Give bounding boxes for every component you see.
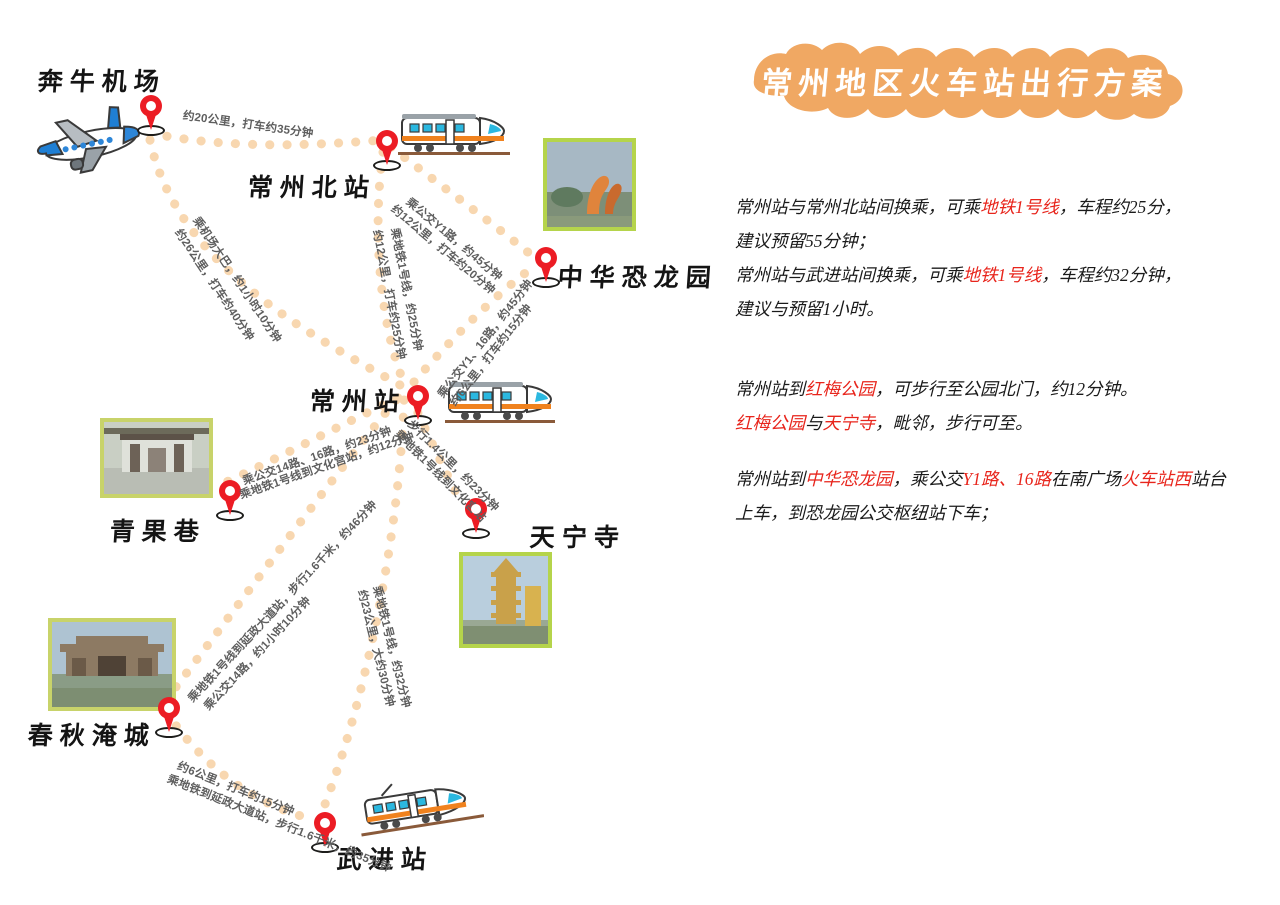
place-label-qingguo-lane: 青果巷 [109, 512, 208, 548]
highlight-text: 火车站西 [1121, 469, 1191, 489]
body-text: 常州站与常州北站间换乘，可乘 [735, 197, 980, 217]
text-line: 常州站与武进站间换乘，可乘地铁1号线，车程约32分钟， [735, 258, 1255, 292]
photo-tianning-temple [459, 552, 552, 648]
place-label-dinosaur-park: 中华恐龙园 [557, 258, 720, 294]
highlight-text: 地铁1号线 [980, 197, 1059, 217]
text-line: 建议预留55分钟； [735, 224, 1255, 258]
title-banner: 常州地区火车站出行方案 [730, 38, 1200, 123]
body-text: 常州站到 [735, 469, 805, 489]
paragraph-transfer-note: 常州站与常州北站间换乘，可乘地铁1号线，车程约25分，建议预留55分钟；常州站与… [735, 190, 1255, 326]
highlight-text: Y1路、16路 [963, 469, 1051, 489]
text-line: 常州站到中华恐龙园，乘公交Y1路、16路在南广场火车站西站台 [735, 462, 1255, 496]
place-label-chunqiu-yancheng: 春秋淹城 [27, 716, 158, 752]
body-text: ，车程约25分， [1059, 197, 1182, 217]
body-text: 建议与预留1小时。 [735, 299, 884, 319]
place-label-tianning-temple: 天宁寺 [529, 518, 628, 554]
body-text: 上车，到恐龙园公交枢纽站下车； [735, 503, 998, 523]
pin-chunqiu-yancheng[interactable] [154, 697, 184, 739]
highlight-text: 红梅公园 [735, 413, 805, 433]
place-label-benniu-airport: 奔牛机场 [37, 62, 168, 98]
pin-changzhou-north[interactable] [372, 130, 402, 172]
highlight-text: 天宁寺 [823, 413, 876, 433]
body-text: 在南广场 [1051, 469, 1121, 489]
pin-benniu-airport[interactable] [136, 95, 166, 137]
body-text: 常州站到 [735, 379, 805, 399]
body-text: ，车程约32分钟， [1041, 265, 1181, 285]
body-text: ，毗邻，步行可至。 [875, 413, 1033, 433]
text-line: 常州站与常州北站间换乘，可乘地铁1号线，车程约25分， [735, 190, 1255, 224]
train-north-icon [398, 110, 510, 158]
body-text: 站台 [1191, 469, 1226, 489]
text-line: 红梅公园与天宁寺，毗邻，步行可至。 [735, 406, 1255, 440]
text-line: 建议与预留1小时。 [735, 292, 1255, 326]
body-text: 常州站与武进站间换乘，可乘 [735, 265, 963, 285]
infographic-root: .dotline{fill:none;stroke:#f8d7b0;stroke… [0, 0, 1280, 905]
route-map: .dotline{fill:none;stroke:#f8d7b0;stroke… [0, 0, 715, 905]
place-label-changzhou-station: 常州站 [309, 382, 408, 418]
highlight-text: 红梅公园 [805, 379, 875, 399]
highlight-text: 中华恐龙园 [805, 469, 893, 489]
train-wujin-icon [356, 776, 484, 840]
info-pane: 常州地区火车站出行方案 常州站与常州北站间换乘，可乘地铁1号线，车程约25分，建… [715, 0, 1280, 905]
paragraph-hongmei-note: 常州站到红梅公园，可步行至公园北门，约12分钟。红梅公园与天宁寺，毗邻，步行可至… [735, 372, 1255, 440]
paragraph-dinosaur-note: 常州站到中华恐龙园，乘公交Y1路、16路在南广场火车站西站台上车，到恐龙园公交枢… [735, 462, 1255, 530]
text-line: 上车，到恐龙园公交枢纽站下车； [735, 496, 1255, 530]
airplane-icon [30, 100, 150, 178]
highlight-text: 地铁1号线 [963, 265, 1042, 285]
body-text: ，可步行至公园北门，约12分钟。 [875, 379, 1138, 399]
page-title: 常州地区火车站出行方案 [726, 38, 1203, 123]
text-line: 常州站到红梅公园，可步行至公园北门，约12分钟。 [735, 372, 1255, 406]
body-text: 建议预留55分钟； [735, 231, 875, 251]
body-text: 与 [805, 413, 823, 433]
photo-qingguo-lane [100, 418, 213, 498]
place-label-changzhou-north: 常州北站 [247, 168, 378, 204]
photo-dinosaur-park [543, 138, 636, 231]
body-text: ，乘公交 [893, 469, 963, 489]
